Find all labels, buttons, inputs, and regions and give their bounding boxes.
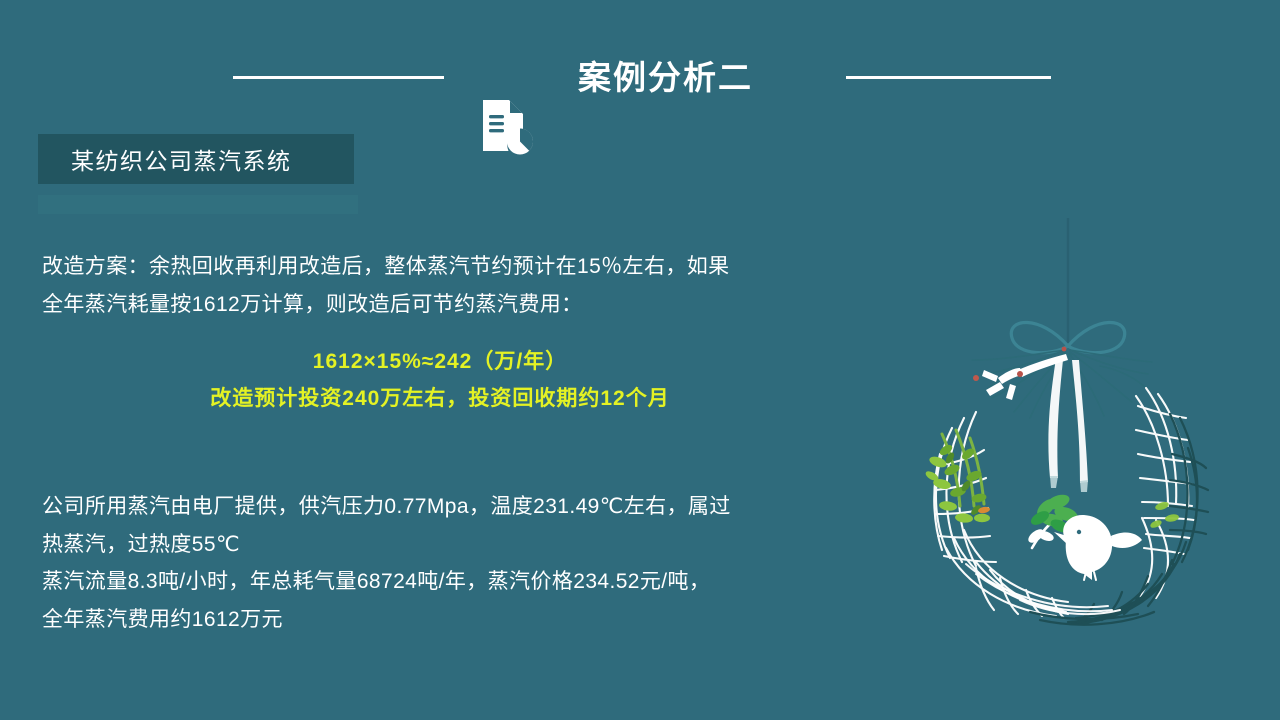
section-banner-box: 某纺织公司蒸汽系统 xyxy=(38,134,354,184)
hanging-wreath-illustration xyxy=(880,218,1280,658)
highlight-line-formula: 1612×15%≈242（万/年） xyxy=(0,343,880,380)
highlight-line-payback: 改造预计投资240万左右，投资回收期约12个月 xyxy=(0,380,880,417)
paragraph-flow-line-1: 蒸汽流量8.3吨/小时，年总耗气量68724吨/年，蒸汽价格234.52元/吨， xyxy=(42,563,710,601)
slide-canvas: 案例分析二 某纺织公司蒸汽系统 改造方案：余热回收再利用改造后，整体蒸汽节约预计… xyxy=(0,0,1280,720)
section-banner-underbar xyxy=(38,195,358,214)
page-title: 案例分析二 xyxy=(578,56,753,100)
slide-header: 案例分析二 xyxy=(0,46,1280,108)
paragraph-specs-line-2: 热蒸汽，过热度55℃ xyxy=(42,526,731,564)
header-rule-right xyxy=(846,76,1051,79)
document-report-icon xyxy=(477,98,535,156)
paragraph-flow-line-2: 全年蒸汽费用约1612万元 xyxy=(42,601,710,639)
paragraph-intro-line-1: 改造方案：余热回收再利用改造后，整体蒸汽节约预计在15％左右，如果 xyxy=(42,248,730,286)
paragraph-steam-flow: 蒸汽流量8.3吨/小时，年总耗气量68724吨/年，蒸汽价格234.52元/吨，… xyxy=(42,563,710,639)
highlight-calculation: 1612×15%≈242（万/年） 改造预计投资240万左右，投资回收期约12个… xyxy=(0,343,880,417)
section-banner: 某纺织公司蒸汽系统 xyxy=(38,134,360,184)
paragraph-specs-line-1: 公司所用蒸汽由电厂提供，供汽压力0.77Mpa，温度231.49℃左右，属过 xyxy=(42,488,731,526)
paragraph-intro-line-2: 全年蒸汽耗量按1612万计算，则改造后可节约蒸汽费用： xyxy=(42,286,730,324)
paragraph-steam-specs: 公司所用蒸汽由电厂提供，供汽压力0.77Mpa，温度231.49℃左右，属过 热… xyxy=(42,488,731,564)
paragraph-intro: 改造方案：余热回收再利用改造后，整体蒸汽节约预计在15％左右，如果 全年蒸汽耗量… xyxy=(42,248,730,324)
section-banner-label: 某纺织公司蒸汽系统 xyxy=(71,142,292,176)
header-rule-left xyxy=(233,76,444,79)
